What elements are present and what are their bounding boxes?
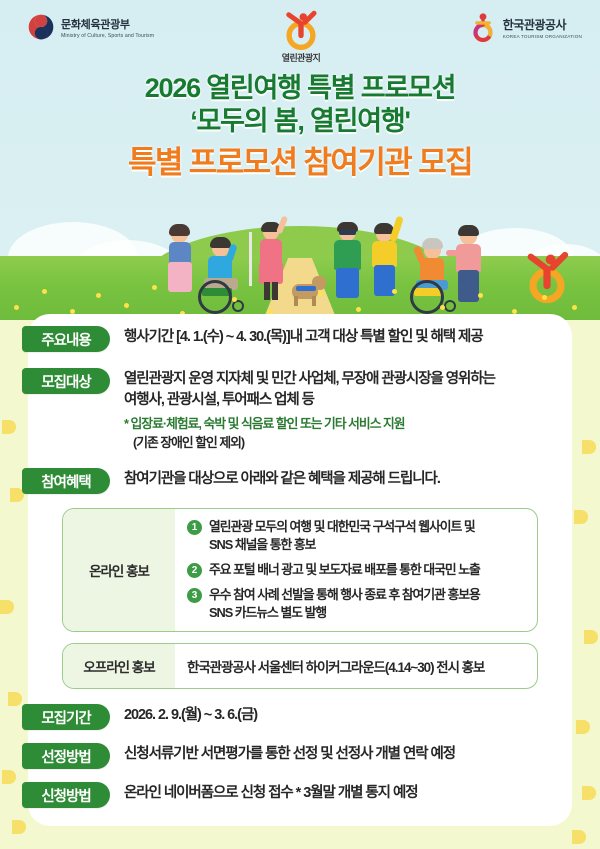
logo-korea-tourism-organization: 한국관광공사 KOREA TOURISM ORGANIZATION bbox=[469, 12, 582, 42]
label-application-period: 모집기간 bbox=[22, 704, 110, 730]
how-to-apply-text: 온라인 네이버폼으로 신청 접수 * 3월말 개별 통지 예정 bbox=[124, 783, 418, 804]
logo-ministry-label-en: Ministry of Culture, Sports and Tourism bbox=[61, 33, 154, 39]
open-tourism-mark-icon bbox=[278, 4, 324, 50]
logo-ministry-label-kr: 문화체육관광부 bbox=[61, 16, 154, 32]
benefits-intro: 참여기관을 대상으로 아래와 같은 혜택을 제공해 드립니다. bbox=[124, 469, 440, 490]
title-line-1: 2026 열린여행 특별 프로모션 bbox=[0, 72, 600, 105]
label-eligibility: 모집대상 bbox=[22, 368, 110, 394]
logo-kto-label-en: KOREA TOURISM ORGANIZATION bbox=[503, 34, 582, 39]
title-line-3: 특별 프로모션 참여기관 모집 bbox=[0, 144, 600, 181]
label-main-content: 주요내용 bbox=[22, 326, 110, 352]
label-how-to-apply: 신청방법 bbox=[22, 782, 110, 808]
bullet-number-1: 1 bbox=[187, 520, 202, 535]
benefits-online-label: 온라인 홍보 bbox=[63, 509, 175, 631]
logo-kto-label-kr: 한국관광공사 bbox=[503, 16, 582, 33]
row-eligibility: 모집대상 열린관광지 운영 지자체 및 민간 사업체, 무장애 관광시장을 영위… bbox=[22, 368, 495, 453]
benefits-online-item-3-line-2: SNS 카드뉴스 별도 발행 bbox=[209, 604, 480, 622]
bullet-number-3: 3 bbox=[187, 588, 202, 603]
row-how-to-apply: 신청방법 온라인 네이버폼으로 신청 접수 * 3월말 개별 통지 예정 bbox=[22, 782, 418, 808]
row-benefits: 참여혜택 참여기관을 대상으로 아래와 같은 혜택을 제공해 드립니다. bbox=[22, 468, 440, 494]
title-block: 2026 열린여행 특별 프로모션 ‘모두의 봄, 열린여행' 특별 프로모션 … bbox=[0, 72, 600, 181]
eligibility-note-2: (기존 장애인 할인 제외) bbox=[124, 434, 495, 453]
title-line-2: ‘모두의 봄, 열린여행' bbox=[0, 105, 600, 138]
bullet-number-2: 2 bbox=[187, 563, 202, 578]
benefits-online-item: 1 열린관광 모두의 여행 및 대한민국 구석구석 웹사이트 및 SNS 채널을… bbox=[187, 518, 527, 554]
benefits-row-offline: 오프라인 홍보 한국관광공사 서울센터 하이커그라운드(4.14~30) 전시 … bbox=[62, 643, 538, 689]
eligibility-line-2: 여행사, 관광시설, 투어패스 업체 등 bbox=[124, 390, 495, 411]
benefits-online-item-2-line-1: 주요 포털 배너 광고 및 보도자료 배포를 통한 대국민 노출 bbox=[209, 561, 480, 579]
logo-open-tourist-site: 열린관광지 bbox=[262, 4, 340, 64]
poster: 문화체육관광부 Ministry of Culture, Sports and … bbox=[0, 0, 600, 849]
benefits-online-item: 3 우수 참여 사례 선발을 통해 행사 종료 후 참여기관 홍보용 SNS 카… bbox=[187, 586, 527, 622]
benefits-row-online: 온라인 홍보 1 열린관광 모두의 여행 및 대한민국 구석구석 웹사이트 및 … bbox=[62, 508, 538, 632]
benefits-online-item-1-line-1: 열린관광 모두의 여행 및 대한민국 구석구석 웹사이트 및 bbox=[209, 518, 475, 536]
logo-bar: 문화체육관광부 Ministry of Culture, Sports and … bbox=[0, 0, 600, 68]
benefits-online-item-3-line-1: 우수 참여 사례 선발을 통해 행사 종료 후 참여기관 홍보용 bbox=[209, 586, 480, 604]
selection-method-text: 신청서류기반 서면평가를 통한 선정 및 선정사 개별 연락 예정 bbox=[124, 744, 455, 765]
side-decoration-right bbox=[570, 300, 600, 849]
row-main-content: 주요내용 행사기간 [4. 1.(수) ~ 4. 30.(목)]내 고객 대상 … bbox=[22, 326, 483, 352]
logo-ministry-of-culture-sports-tourism: 문화체육관광부 Ministry of Culture, Sports and … bbox=[28, 14, 154, 40]
main-content-line-1: 행사기간 [4. 1.(수) ~ 4. 30.(목)]내 고객 대상 특별 할인… bbox=[124, 327, 483, 348]
benefits-offline-label: 오프라인 홍보 bbox=[63, 644, 175, 688]
row-selection-method: 선정방법 신청서류기반 서면평가를 통한 선정 및 선정사 개별 연락 예정 bbox=[22, 743, 455, 769]
benefits-online-item-1-line-2: SNS 채널을 통한 홍보 bbox=[209, 536, 475, 554]
eligibility-note-1: * 입장료·체험료, 숙박 및 식음료 할인 또는 기타 서비스 지원 bbox=[124, 415, 495, 434]
benefits-offline-text: 한국관광공사 서울센터 하이커그라운드(4.14~30) 전시 홍보 bbox=[187, 656, 527, 676]
label-benefits: 참여혜택 bbox=[22, 468, 110, 494]
eligibility-line-1: 열린관광지 운영 지자체 및 민간 사업체, 무장애 관광시장을 영위하는 bbox=[124, 369, 495, 390]
application-period-text: 2026. 2. 9.(월) ~ 3. 6.(금) bbox=[124, 705, 257, 726]
kto-mark-icon bbox=[469, 12, 497, 42]
benefits-table: 온라인 홍보 1 열린관광 모두의 여행 및 대한민국 구석구석 웹사이트 및 … bbox=[62, 508, 538, 689]
benefits-online-item: 2 주요 포털 배너 광고 및 보도자료 배포를 통한 대국민 노출 bbox=[187, 561, 527, 579]
logo-open-tourist-site-caption: 열린관광지 bbox=[262, 51, 340, 64]
illustration-people-in-field bbox=[0, 196, 600, 320]
flower-petals bbox=[0, 270, 600, 320]
row-application-period: 모집기간 2026. 2. 9.(월) ~ 3. 6.(금) bbox=[22, 704, 257, 730]
taegeuk-icon bbox=[28, 14, 54, 40]
label-selection-method: 선정방법 bbox=[22, 743, 110, 769]
